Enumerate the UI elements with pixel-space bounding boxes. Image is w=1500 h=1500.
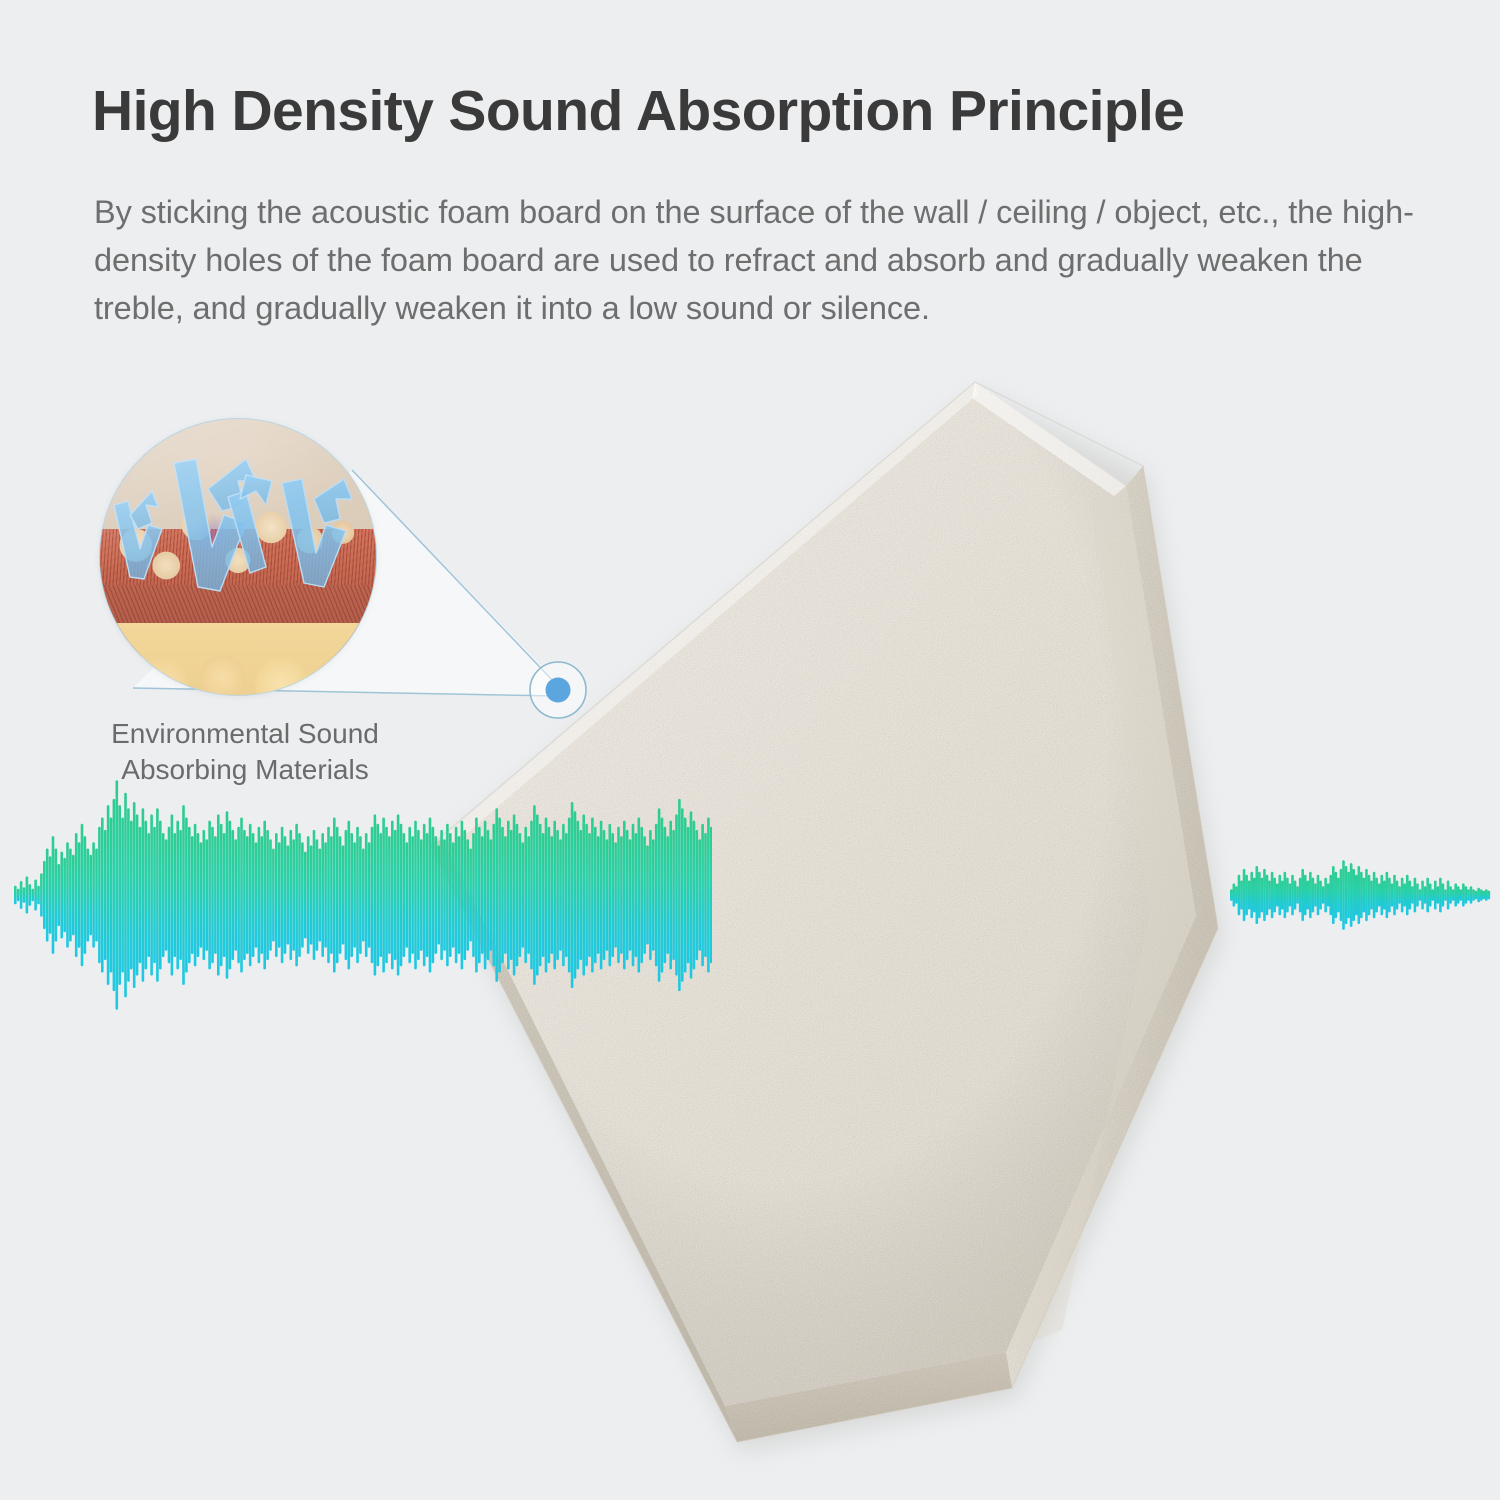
magnified-material-inset bbox=[99, 418, 377, 696]
page-description: By sticking the acoustic foam board on t… bbox=[94, 188, 1414, 332]
page-title: High Density Sound Absorption Principle bbox=[92, 78, 1184, 144]
callout-caption: Environmental Sound Absorbing Materials bbox=[80, 716, 410, 788]
callout-caption-line-2: Absorbing Materials bbox=[80, 752, 410, 788]
sound-arrows-icon bbox=[100, 419, 377, 696]
infographic-canvas: High Density Sound Absorption Principle … bbox=[0, 0, 1500, 1500]
callout-marker-dot[interactable] bbox=[546, 678, 571, 703]
callout-caption-line-1: Environmental Sound bbox=[80, 716, 410, 752]
